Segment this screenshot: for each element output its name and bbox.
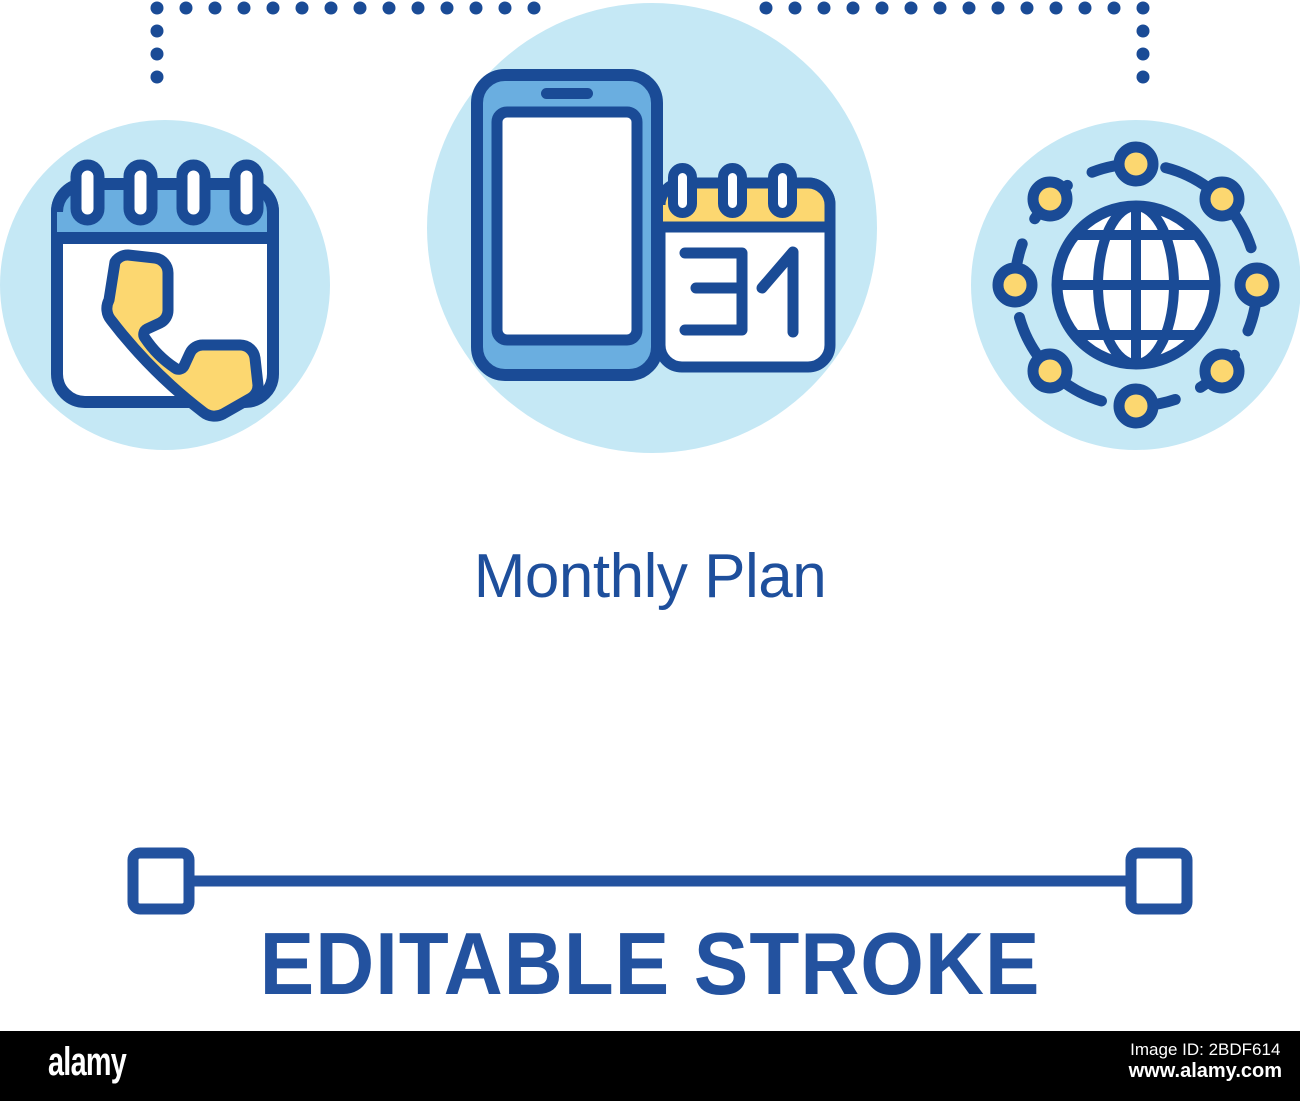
calendar-phone-call-icon xyxy=(0,120,330,450)
editable-stroke-label: EDITABLE STROKE xyxy=(46,920,1255,1008)
concept-title: Monthly Plan xyxy=(0,546,1300,608)
globe-network-icon xyxy=(971,120,1300,450)
watermark-footer-bar xyxy=(0,1031,1300,1101)
editable-stroke-bar xyxy=(133,853,1187,909)
smartphone-screen xyxy=(497,112,637,340)
footer-credit-block: Image ID: 2BDF614 www.alamy.com xyxy=(1129,1040,1282,1084)
illustration-canvas: Monthly Plan EDITABLE STROKE alamy Image… xyxy=(0,0,1300,1101)
stroke-handle-left xyxy=(133,853,189,909)
alamy-logo: alamy xyxy=(48,1040,126,1085)
image-id-label: Image ID: 2BDF614 xyxy=(1129,1040,1282,1060)
smartphone-calendar-icon xyxy=(427,3,877,453)
calendar-rings-center xyxy=(673,168,792,213)
dotted-bracket-left xyxy=(151,2,541,84)
website-label: www.alamy.com xyxy=(1129,1060,1282,1084)
dotted-bracket-right xyxy=(760,2,1150,84)
smartphone-speaker-slot xyxy=(541,88,593,99)
stroke-handle-right xyxy=(1131,853,1187,909)
